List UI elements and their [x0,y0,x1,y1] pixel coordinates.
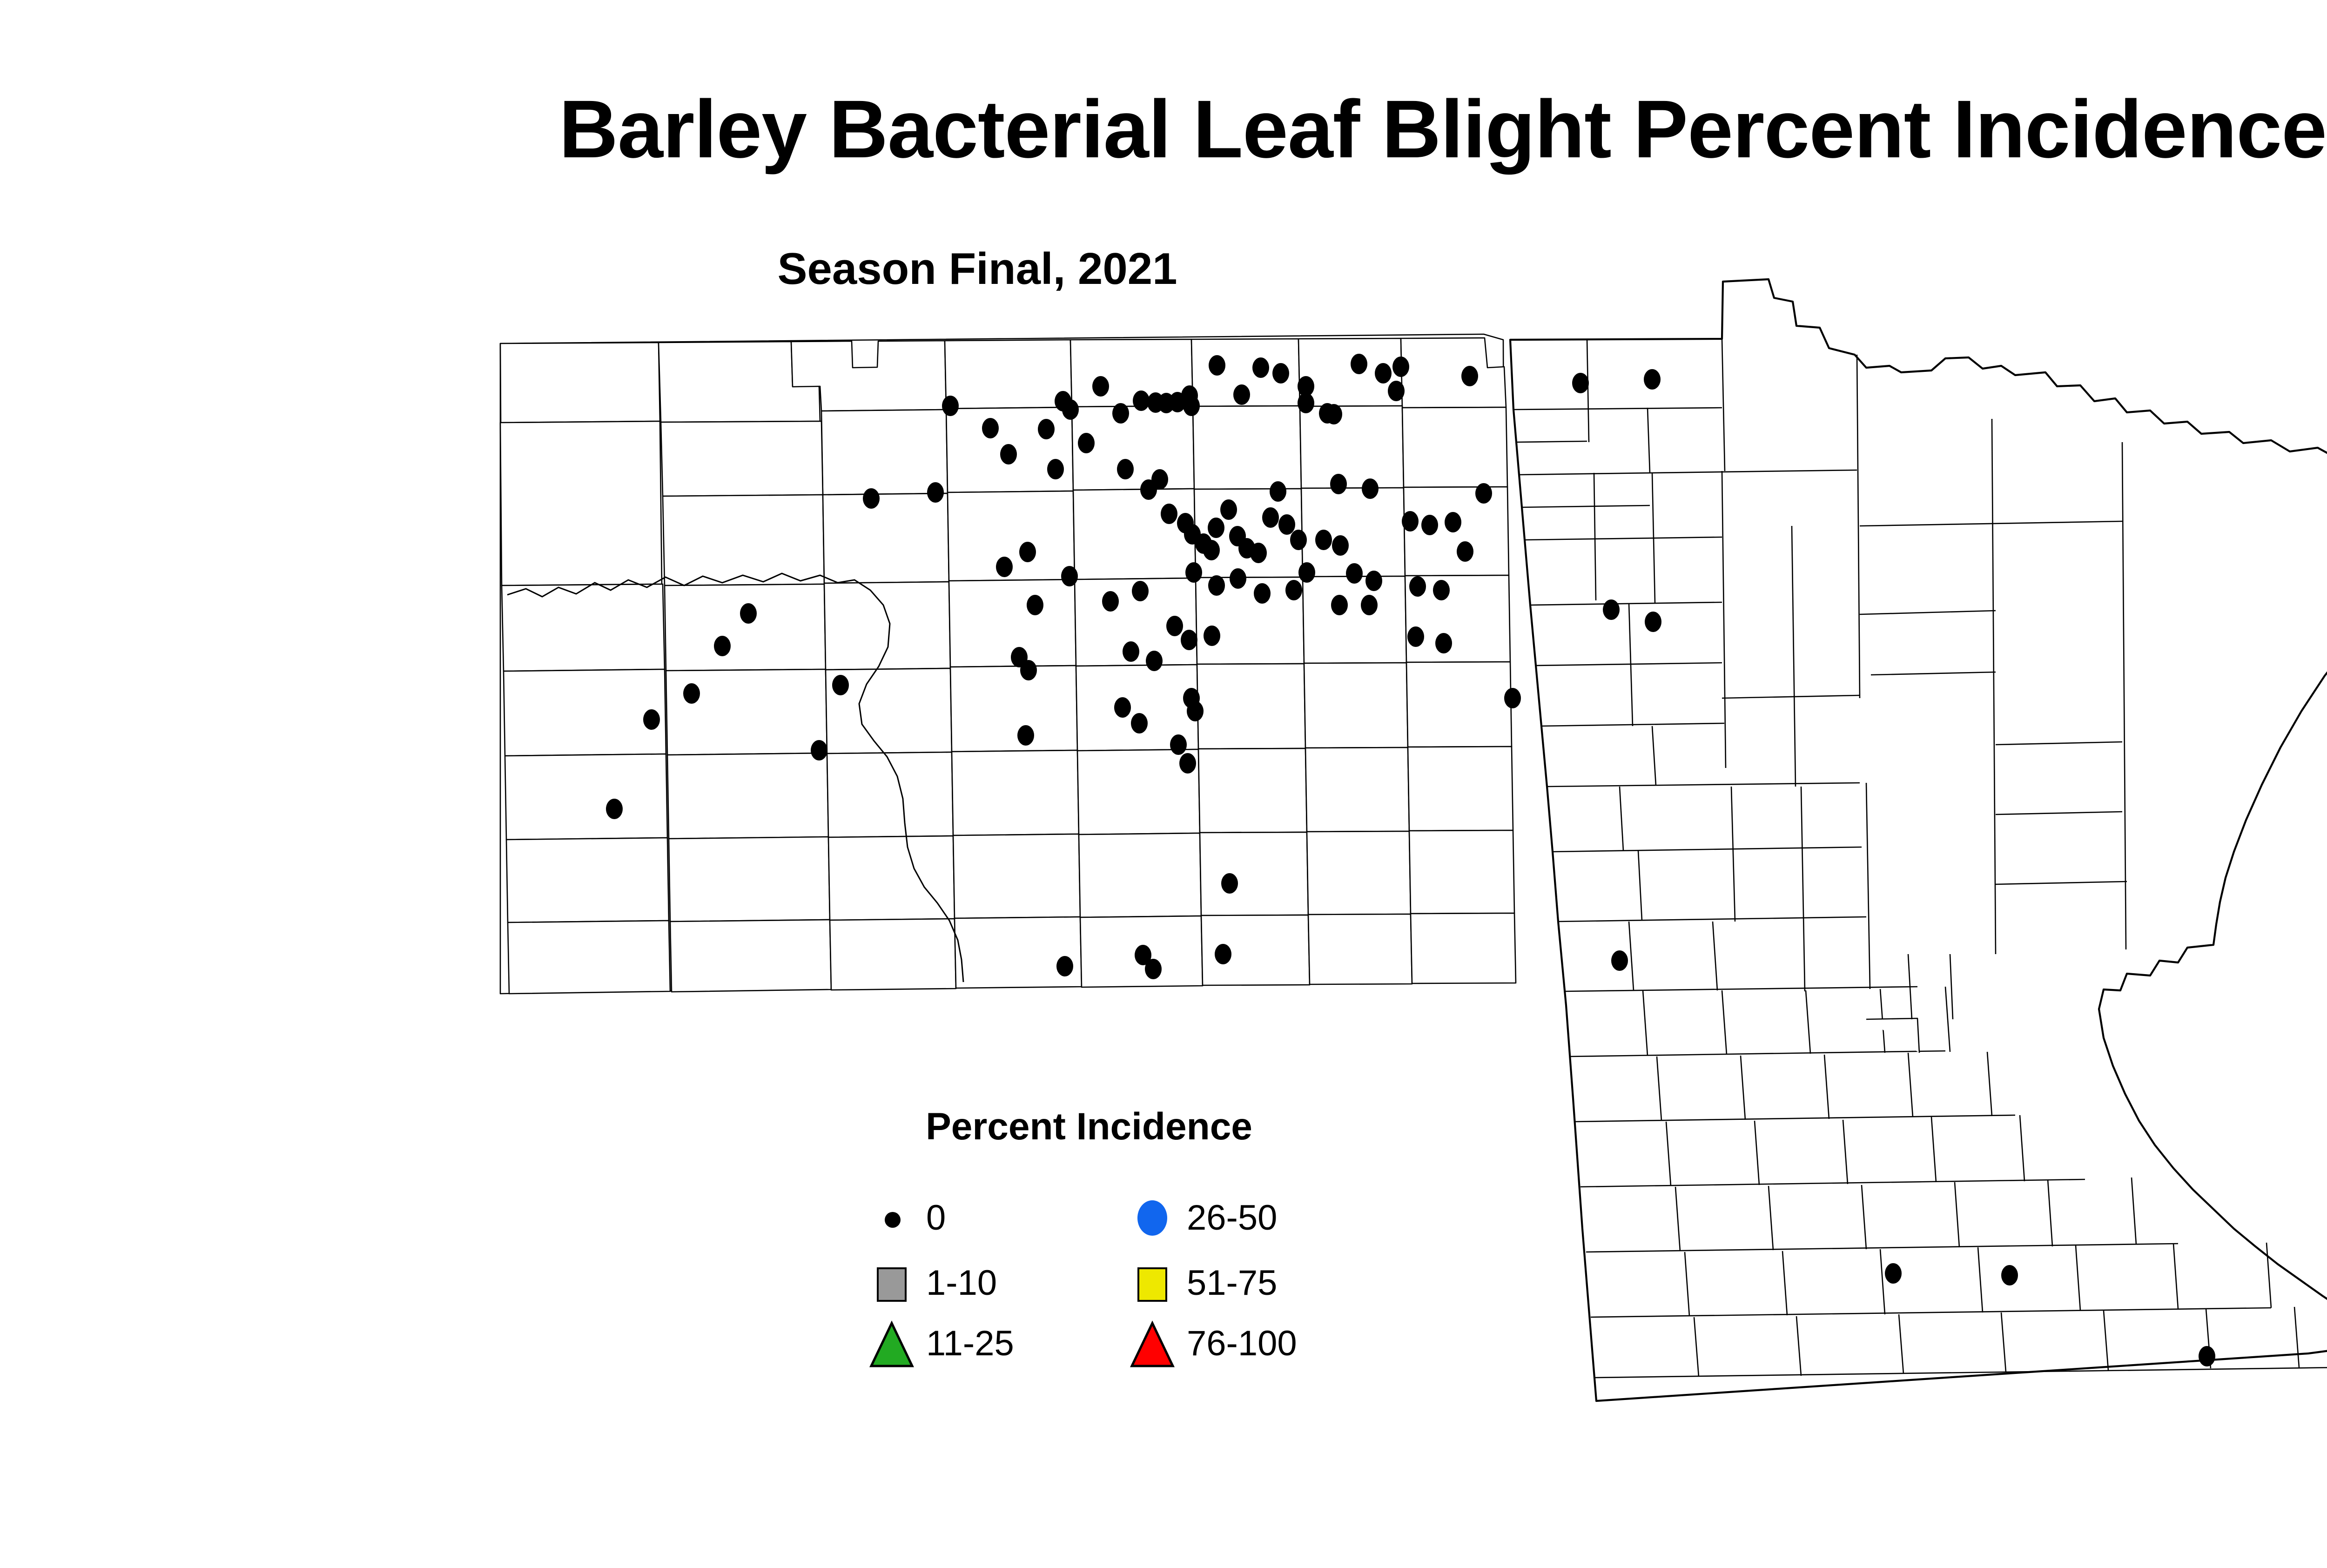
map-point [1161,504,1177,524]
map-point [1250,543,1267,563]
map-point [1272,363,1289,384]
map-point [1315,530,1332,550]
map-point [1433,580,1450,600]
map-point [1220,499,1237,520]
map-point [1230,568,1246,589]
map-point [1038,419,1055,439]
map-point [1254,583,1271,604]
map-point [1402,511,1419,532]
map-point [1644,369,1661,390]
map-point [1270,481,1286,502]
map-point [1457,541,1473,562]
map-point [982,418,999,438]
map-point [1362,478,1379,499]
map-point [1170,734,1187,755]
map-point [1421,515,1438,535]
map-point [1278,514,1295,535]
map-point [1285,580,1302,600]
map-point [1017,725,1034,746]
map-point [740,603,757,624]
map-point [1290,530,1307,550]
legend-swatch-circle-icon [1126,1194,1182,1245]
map-point [1056,956,1073,976]
map-point [643,709,660,730]
map-point [1078,433,1095,453]
map-point [1346,563,1363,584]
map-point [1331,595,1348,615]
map-point [1475,483,1492,504]
map-point [811,740,827,760]
map-point [1179,753,1196,774]
legend-swatch-square-icon [1126,1259,1182,1310]
map-point [1181,630,1197,650]
map-point [1027,595,1043,615]
legend-item-label: 11-25 [926,1326,1014,1361]
map-point [2001,1265,2018,1285]
legend-swatch-triangle-icon [1126,1319,1182,1371]
map-point [1000,444,1017,464]
map-point [1461,366,1478,386]
map-point [1325,404,1342,424]
legend-item-label: 26-50 [1187,1200,1277,1236]
map-point [1061,566,1078,586]
map-point [1112,403,1129,424]
map-point [1445,512,1461,532]
minnesota-counties [1510,279,2327,1401]
map-point [1114,697,1131,718]
legend-title: Percent Incidence [866,1108,1312,1146]
legend-item-label: 0 [926,1200,946,1236]
map-point [1407,626,1424,647]
map-point [1092,376,1109,397]
map-point [1409,576,1426,597]
map-point [863,488,880,509]
map-point [832,675,849,695]
map-point [1183,396,1200,416]
map-point [1645,612,1661,632]
map-point [996,557,1013,577]
legend-item-label: 76-100 [1187,1326,1297,1361]
map-point [1392,357,1409,377]
map-point [1361,595,1378,615]
map-point [1252,357,1269,378]
map-point [1062,399,1079,420]
map-point [1885,1263,1902,1284]
legend-swatch-square-icon [866,1259,921,1310]
map-point [1435,633,1452,653]
map-point [1572,373,1589,393]
map-point [1117,459,1134,479]
map-point [683,683,700,704]
map-point [1151,469,1168,490]
map-point [1298,562,1315,583]
map-point [1262,507,1279,528]
map-point [1375,363,1392,384]
map-point [1221,873,1238,894]
map-legend: Percent Incidence 01-1011-2526-5051-7576… [866,1108,1401,1359]
map-point [2199,1346,2215,1366]
map-point [1102,591,1119,612]
map-point [1132,581,1149,601]
map-point [1185,562,1202,583]
map-point [1332,535,1349,556]
map-point [1020,660,1037,680]
map-point [1208,518,1224,538]
map-point [1047,459,1064,479]
map-point [1388,381,1405,401]
legend-item-label: 51-75 [1187,1265,1277,1301]
map-point [1351,354,1367,374]
map-point [1215,944,1231,964]
map-point [1603,599,1620,620]
map-point [1123,641,1139,662]
map-point [1611,950,1628,971]
map-point [1019,542,1036,562]
map-point [1203,540,1220,560]
map-point [1365,571,1382,591]
map-point [1146,651,1163,671]
map-point [1187,701,1204,721]
map-point [927,482,944,503]
map-point [1330,474,1347,494]
legend-swatch-triangle-icon [866,1319,921,1371]
north-dakota-counties [500,334,1516,994]
map-point [942,396,959,416]
legend-swatch-circle-small-icon [866,1194,921,1245]
map-point [1208,575,1225,596]
map-point [1504,688,1521,708]
map-point [714,636,731,656]
map-point [1204,626,1220,646]
legend-item-label: 1-10 [926,1265,997,1301]
map-point [1131,713,1148,734]
map-point [1133,390,1150,411]
map-point [1145,959,1162,979]
map-point [1166,616,1183,636]
map-point [1233,384,1250,405]
map-point [606,799,623,819]
map-point [1209,355,1225,376]
map-point [1298,393,1314,413]
